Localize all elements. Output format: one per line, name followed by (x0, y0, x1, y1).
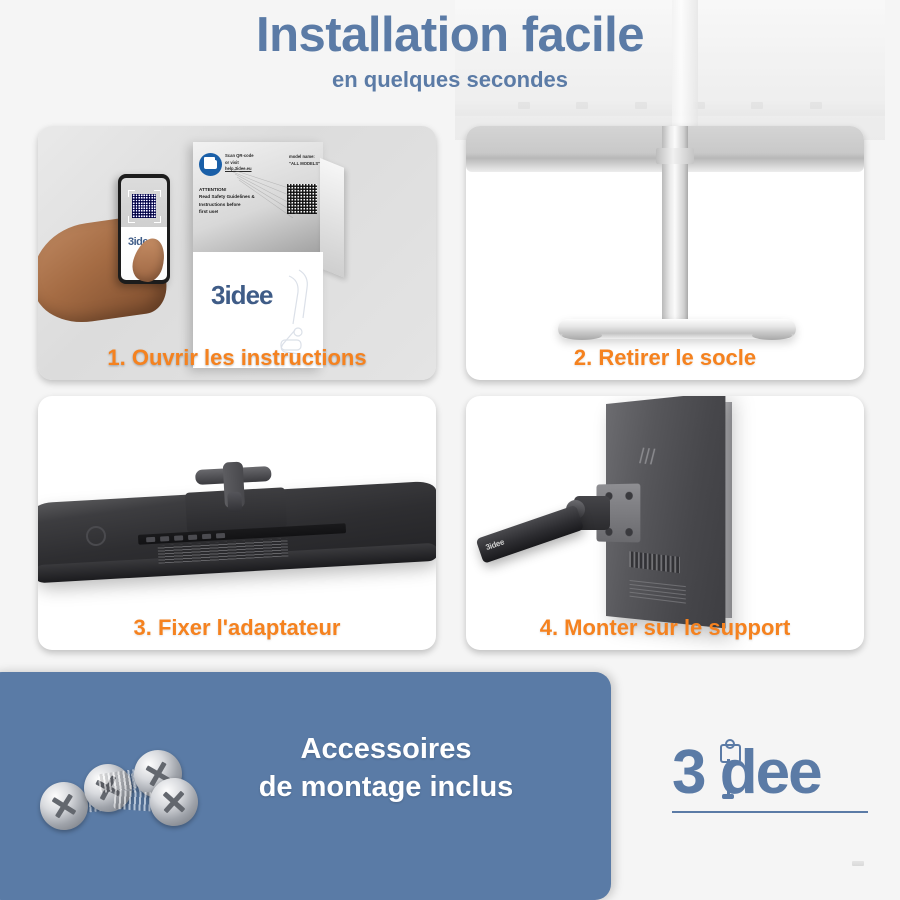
corner-watermark (852, 861, 864, 866)
brand-logo-part-a: 3 (672, 738, 704, 807)
brand-logo: 3idee (672, 742, 872, 818)
accessories-line-2: de montage inclus (216, 768, 556, 806)
poster-root: Installation facile en quelques secondes… (0, 0, 900, 900)
step-caption-2: 2. Retirer le socle (466, 345, 864, 371)
page-title: Installation facile (0, 10, 900, 61)
brand-logo-text: 3idee (672, 742, 872, 804)
product-box-image: Scan QR-code or visit help.3idee.eu mode… (193, 142, 323, 368)
screw-head (38, 780, 91, 833)
stand-foot-right (752, 331, 792, 340)
vesa-adapter (195, 460, 274, 516)
scan-frame-corner-bl (128, 216, 135, 223)
monitor-rear-image (38, 484, 436, 588)
step-caption-3: 3. Fixer l'adaptateur (38, 615, 436, 641)
scan-frame-corner-tr (154, 190, 161, 197)
step-card-2: 2. Retirer le socle (466, 126, 864, 380)
screw-head (148, 776, 199, 827)
box-brand-logo: 3idee (211, 280, 273, 311)
qr-code-on-screen (132, 194, 156, 218)
monitor-brand-mark: /// (639, 443, 655, 471)
screw-1 (38, 780, 91, 833)
stand-collar (656, 148, 694, 164)
stand-icon-pole (727, 759, 730, 797)
accessories-banner-text: Accessoires de montage inclus (216, 730, 556, 807)
brand-logo-underline (672, 811, 868, 813)
page-subtitle: en quelques secondes (0, 67, 900, 93)
box-right-flap (320, 158, 344, 278)
header: Installation facile en quelques secondes (0, 10, 900, 93)
monitor-arm: 3idee (476, 505, 585, 564)
step-caption-4: 4. Monter sur le support (466, 615, 864, 641)
stand-foot-left (562, 331, 602, 340)
box-inner-flap: Scan QR-code or visit help.3idee.eu mode… (193, 142, 323, 259)
step-caption-1: 1. Ouvrir les instructions (38, 345, 436, 371)
scan-frame-corner-tl (128, 190, 135, 197)
screws-image (38, 748, 208, 848)
step-card-4: /// 3idee 4. Monter sur le support (466, 396, 864, 650)
steps-grid: Scan QR-code or visit help.3idee.eu mode… (38, 126, 864, 650)
step-card-1: Scan QR-code or visit help.3idee.eu mode… (38, 126, 436, 380)
step-card-3: 3. Fixer l'adaptateur (38, 396, 436, 650)
scan-frame-corner-br (154, 216, 161, 223)
monitor-mount-stand-icon (717, 744, 739, 802)
ghost-monitor-marks (495, 100, 845, 110)
accessories-line-1: Accessoires (216, 730, 556, 768)
stand-icon-foot (722, 794, 734, 799)
box-fold-lines (193, 142, 323, 259)
adapter-knob (227, 492, 242, 513)
stand-icon-arm (720, 744, 741, 763)
screw-4 (148, 776, 199, 827)
screw-shaft (113, 790, 154, 812)
